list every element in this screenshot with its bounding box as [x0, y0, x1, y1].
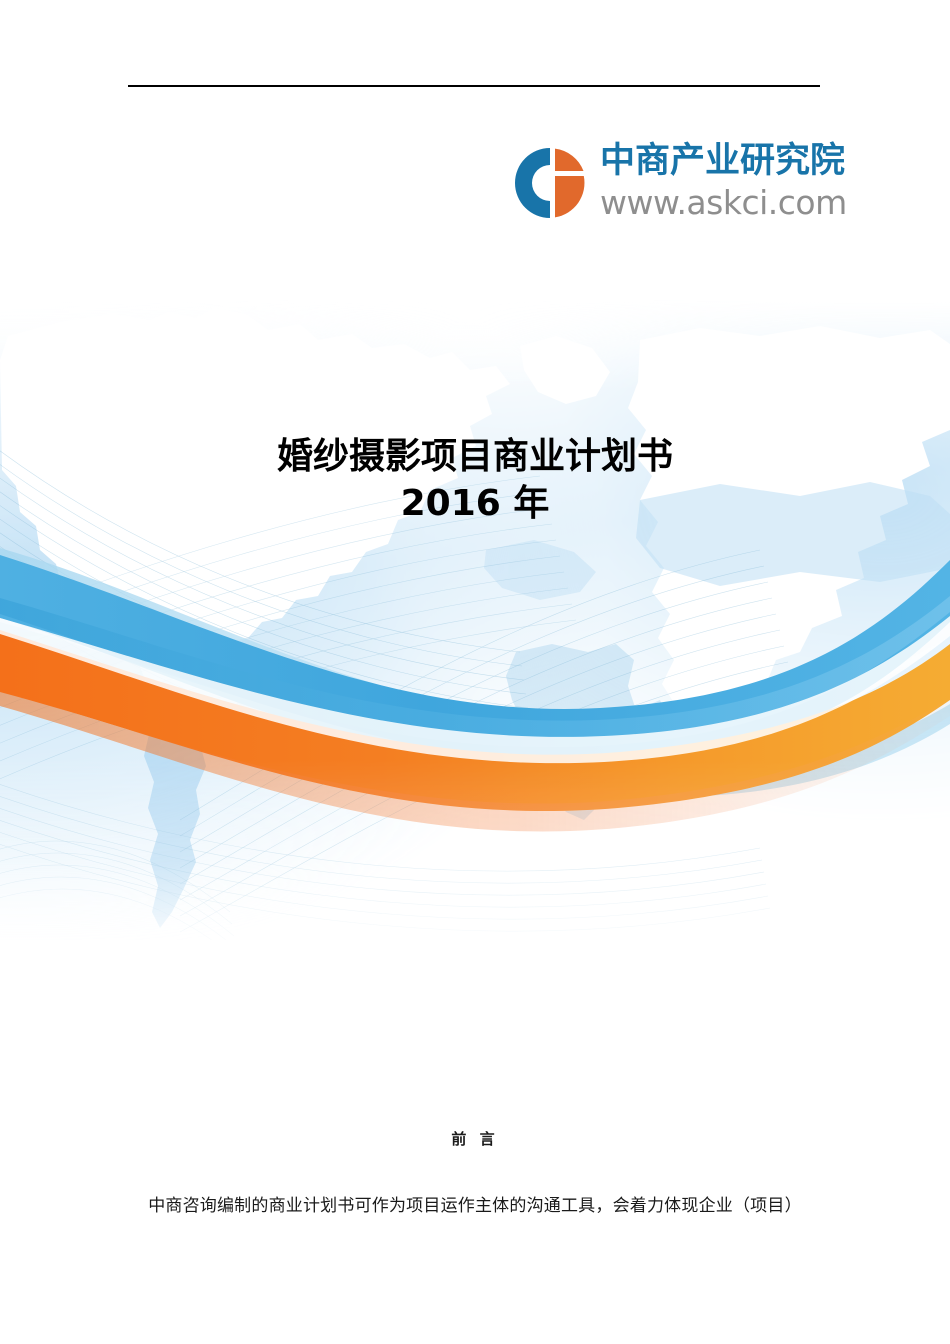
company-logo: 中商产业研究院 www.askci.com: [512, 140, 842, 236]
banner-artwork: [0, 300, 950, 940]
company-name: 中商产业研究院: [600, 140, 840, 182]
preface-heading: 前 言: [0, 1128, 950, 1150]
header-divider-rule: [128, 85, 820, 87]
company-website: www.askci.com: [600, 184, 840, 222]
preface-paragraph: 中商咨询编制的商业计划书可作为项目运作主体的沟通工具，会着力体现企业（项目）: [0, 1192, 950, 1220]
page-title: 婚纱摄影项目商业计划书: [0, 434, 950, 480]
page-title-year: 2016 年: [0, 480, 950, 528]
document-cover-page: 中商产业研究院 www.askci.com: [0, 0, 950, 1344]
cover-banner-graphic: [0, 300, 950, 940]
askci-circle-logo-icon: [512, 145, 588, 221]
logo-text-group: 中商产业研究院 www.askci.com: [600, 140, 840, 222]
cover-title-block: 婚纱摄影项目商业计划书 2016 年: [0, 434, 950, 528]
